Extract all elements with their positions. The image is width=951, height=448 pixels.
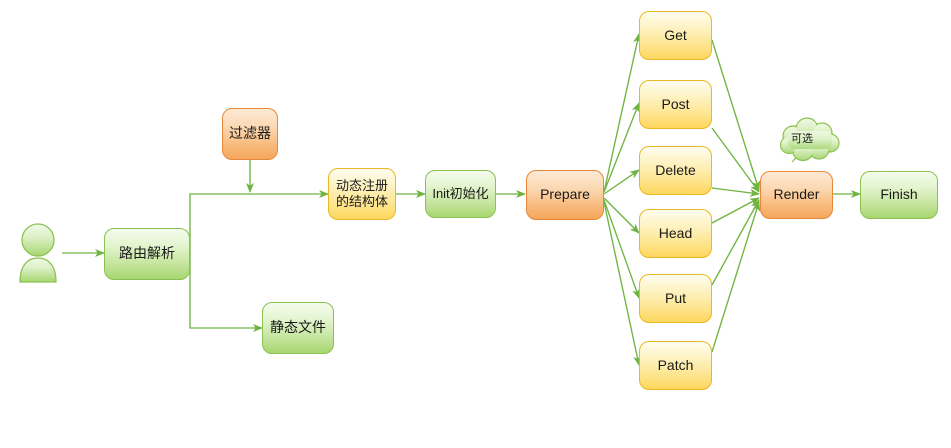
- node-prepare[interactable]: Prepare: [526, 170, 604, 220]
- edge-patch-to-render: [712, 202, 759, 352]
- edge-put-to-render: [712, 200, 759, 285]
- edge-post-to-render: [712, 128, 759, 192]
- render-optional-callout-label: 可选: [791, 130, 813, 146]
- node-method-get[interactable]: Get: [639, 11, 712, 60]
- node-finish-label: Finish: [880, 186, 917, 203]
- node-static-file-label: 静态文件: [270, 319, 326, 336]
- edge-prepare-to-get: [604, 34, 639, 192]
- node-filter[interactable]: 过滤器: [222, 108, 278, 160]
- node-route-parse-label: 路由解析: [119, 245, 175, 262]
- node-route-parse[interactable]: 路由解析: [104, 228, 190, 280]
- node-dynamic-struct-label: 动态注册 的结构体: [336, 178, 388, 210]
- flowchart-canvas: 路由解析 过滤器 静态文件 动态注册 的结构体 Init初始化 Prepare …: [0, 0, 951, 448]
- edge-prepare-to-delete: [604, 170, 639, 194]
- node-method-delete-label: Delete: [655, 162, 695, 179]
- node-init-label: Init初始化: [432, 186, 488, 202]
- node-init[interactable]: Init初始化: [425, 170, 496, 218]
- node-prepare-label: Prepare: [540, 186, 590, 203]
- node-method-head-label: Head: [659, 225, 692, 242]
- edge-get-to-render: [712, 40, 759, 190]
- node-method-delete[interactable]: Delete: [639, 146, 712, 195]
- node-method-post[interactable]: Post: [639, 80, 712, 129]
- edge-route-to-static-file: [190, 253, 262, 328]
- render-optional-callout: 可选: [776, 117, 844, 165]
- node-filter-label: 过滤器: [229, 125, 271, 142]
- node-method-put[interactable]: Put: [639, 274, 712, 323]
- node-dynamic-struct[interactable]: 动态注册 的结构体: [328, 168, 396, 220]
- node-method-patch[interactable]: Patch: [639, 341, 712, 390]
- node-method-head[interactable]: Head: [639, 209, 712, 258]
- user-actor-icon: [12, 222, 64, 284]
- node-render-label: Render: [774, 186, 820, 203]
- node-method-put-label: Put: [665, 290, 686, 307]
- node-method-get-label: Get: [664, 27, 687, 44]
- edge-route-to-dynamic-struct: [190, 194, 328, 253]
- edge-delete-to-render: [712, 188, 759, 194]
- node-finish[interactable]: Finish: [860, 171, 938, 219]
- node-static-file[interactable]: 静态文件: [262, 302, 334, 354]
- edge-head-to-render: [712, 198, 759, 223]
- node-render[interactable]: Render: [760, 171, 833, 219]
- edge-layer: [0, 0, 951, 448]
- edge-prepare-to-post: [604, 103, 639, 192]
- node-method-post-label: Post: [661, 96, 689, 113]
- node-method-patch-label: Patch: [658, 357, 694, 374]
